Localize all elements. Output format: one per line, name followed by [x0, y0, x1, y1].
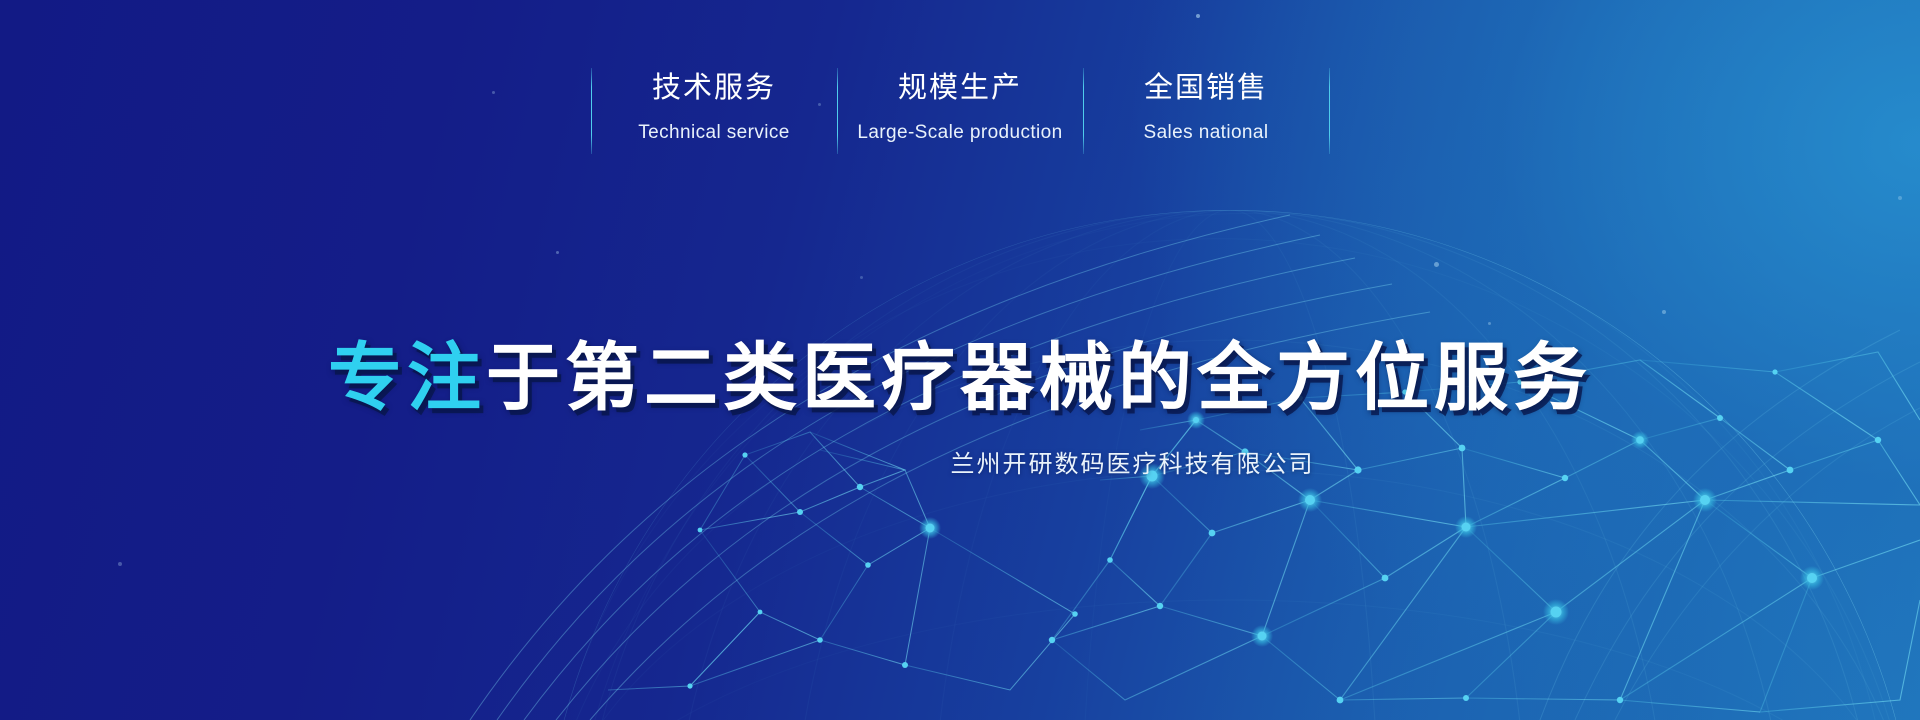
feature-item-sales-national[interactable]: 全国销售 Sales national	[1084, 68, 1329, 154]
feature-item-technical-service[interactable]: 技术服务 Technical service	[592, 68, 837, 154]
particle	[118, 562, 122, 566]
feature-title-en: Sales national	[1096, 118, 1317, 148]
feature-title-cn: 技术服务	[604, 68, 825, 108]
particle	[1196, 14, 1200, 18]
feature-strip: 技术服务 Technical service 规模生产 Large-Scale …	[0, 68, 1920, 154]
particle	[1434, 262, 1439, 267]
feature-item-large-scale-production[interactable]: 规模生产 Large-Scale production	[838, 68, 1083, 154]
subtitle-block: 兰州开研数码医疗科技有限公司	[0, 448, 1920, 482]
headline-plain-text: 于第二类医疗器械的全方位服务	[486, 336, 1592, 419]
particle	[860, 276, 863, 279]
feature-title-en: Technical service	[604, 118, 825, 148]
hero-banner: 技术服务 Technical service 规模生产 Large-Scale …	[0, 0, 1920, 720]
headline-accent-text: 专注	[328, 336, 486, 419]
company-name: 兰州开研数码医疗科技有限公司	[606, 448, 1315, 482]
divider-right	[1329, 68, 1330, 154]
particle	[1898, 196, 1902, 200]
headline-block: 专注于第二类医疗器械的全方位服务	[0, 330, 1920, 426]
particle	[1662, 310, 1666, 314]
feature-title-en: Large-Scale production	[850, 118, 1071, 148]
hero-headline: 专注于第二类医疗器械的全方位服务	[0, 330, 1920, 426]
feature-title-cn: 全国销售	[1096, 68, 1317, 108]
feature-title-cn: 规模生产	[850, 68, 1071, 108]
particle	[556, 251, 559, 254]
particle	[1488, 322, 1491, 325]
